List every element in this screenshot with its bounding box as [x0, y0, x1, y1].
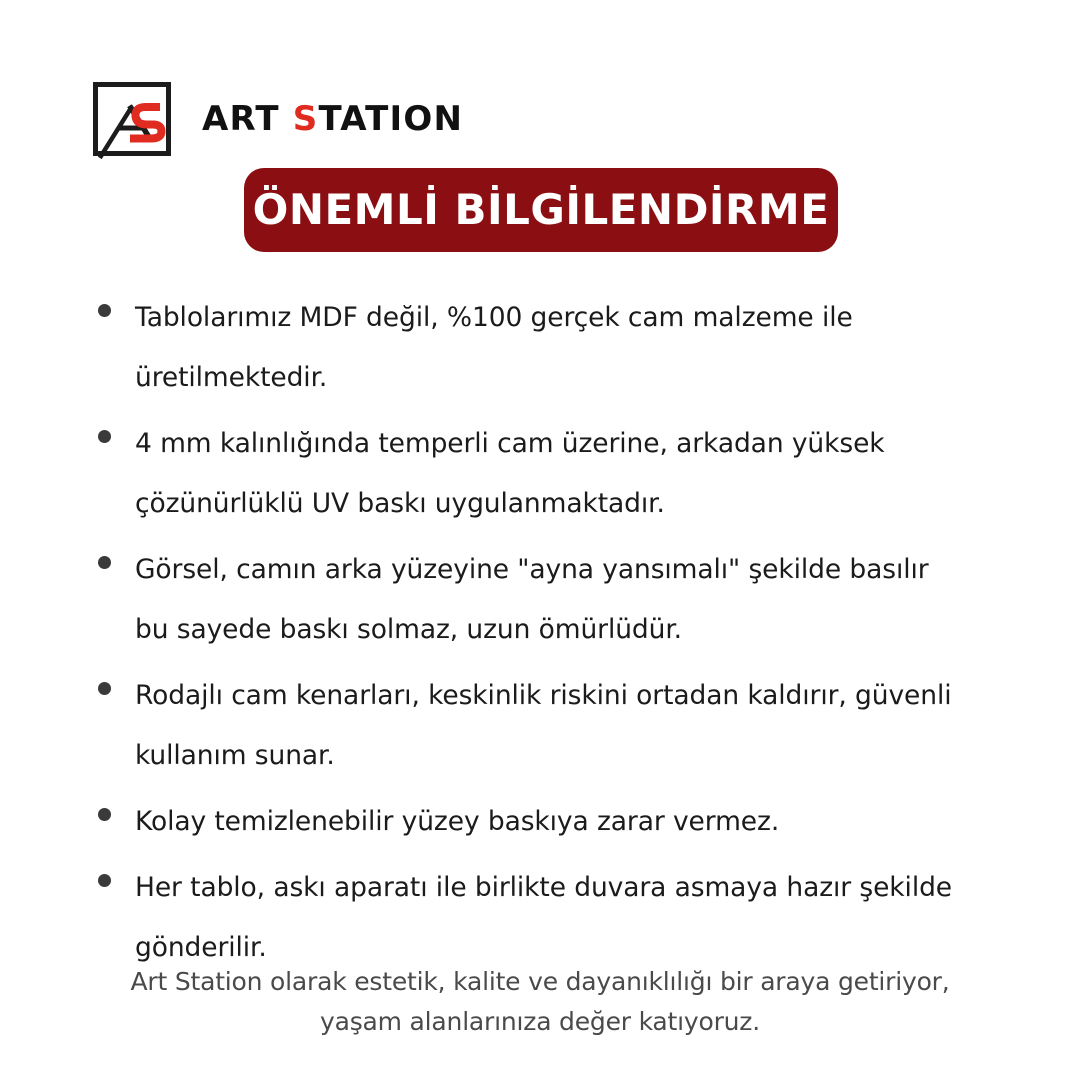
- list-item: 4 mm kalınlığında temperli cam üzerine, …: [98, 414, 1038, 534]
- footer-line-1: Art Station olarak estetik, kalite ve da…: [100, 962, 980, 1002]
- bullet-text: Görsel, camın arka yüzeyine "ayna yansım…: [135, 540, 929, 660]
- bullet-dot-icon: [98, 430, 111, 443]
- bullet-text-line2: gönderilir.: [135, 932, 267, 963]
- art-station-monogram-icon: [90, 80, 180, 160]
- list-item: Görsel, camın arka yüzeyine "ayna yansım…: [98, 540, 1038, 660]
- list-item: Tablolarımız MDF değil, %100 gerçek cam …: [98, 288, 1038, 408]
- footer-line-2: yaşam alanlarınıza değer katıyoruz.: [100, 1002, 980, 1042]
- bullet-text: Rodajlı cam kenarları, keskinlik riskini…: [135, 666, 951, 786]
- bullet-dot-icon: [98, 874, 111, 887]
- bullet-dot-icon: [98, 808, 111, 821]
- bullet-text: Her tablo, askı aparatı ile birlikte duv…: [135, 858, 952, 978]
- bullet-text: Tablolarımız MDF değil, %100 gerçek cam …: [135, 288, 1035, 408]
- title-banner: ÖNEMLİ BİLGİLENDİRME: [244, 168, 838, 252]
- bullet-text: Kolay temizlenebilir yüzey baskıya zarar…: [135, 792, 779, 852]
- bullet-dot-icon: [98, 556, 111, 569]
- bullet-dot-icon: [98, 682, 111, 695]
- bullet-text-line1: Görsel, camın arka yüzeyine "ayna yansım…: [135, 554, 929, 585]
- informational-poster: ART STATION ÖNEMLİ BİLGİLENDİRME Tablola…: [0, 0, 1080, 1080]
- bullet-text-line1: Her tablo, askı aparatı ile birlikte duv…: [135, 872, 952, 903]
- wordmark-art: ART: [202, 99, 293, 139]
- wordmark-tation: TATION: [318, 99, 463, 139]
- list-item: Her tablo, askı aparatı ile birlikte duv…: [98, 858, 1038, 978]
- bullet-text-line1: 4 mm kalınlığında temperli cam üzerine, …: [135, 428, 885, 459]
- bullet-text-line1: Rodajlı cam kenarları, keskinlik riskini…: [135, 680, 951, 711]
- list-item: Rodajlı cam kenarları, keskinlik riskini…: [98, 666, 1038, 786]
- bullet-text-line2: çözünürlüklü UV baskı uygulanmaktadır.: [135, 488, 665, 519]
- bullet-text-line2: kullanım sunar.: [135, 740, 335, 771]
- info-bullet-list: Tablolarımız MDF değil, %100 gerçek cam …: [98, 288, 1038, 984]
- banner-title: ÖNEMLİ BİLGİLENDİRME: [253, 189, 830, 231]
- bullet-dot-icon: [98, 304, 111, 317]
- brand-wordmark: ART STATION: [202, 102, 463, 138]
- bullet-text-line2: bu sayede baskı solmaz, uzun ömürlüdür.: [135, 614, 682, 645]
- brand-header: ART STATION: [90, 80, 463, 160]
- list-item: Kolay temizlenebilir yüzey baskıya zarar…: [98, 792, 1038, 852]
- bullet-text: 4 mm kalınlığında temperli cam üzerine, …: [135, 414, 885, 534]
- logo-glyphs-icon: [90, 80, 180, 160]
- footer-tagline: Art Station olarak estetik, kalite ve da…: [0, 962, 1080, 1042]
- wordmark-s-accent: S: [293, 99, 319, 139]
